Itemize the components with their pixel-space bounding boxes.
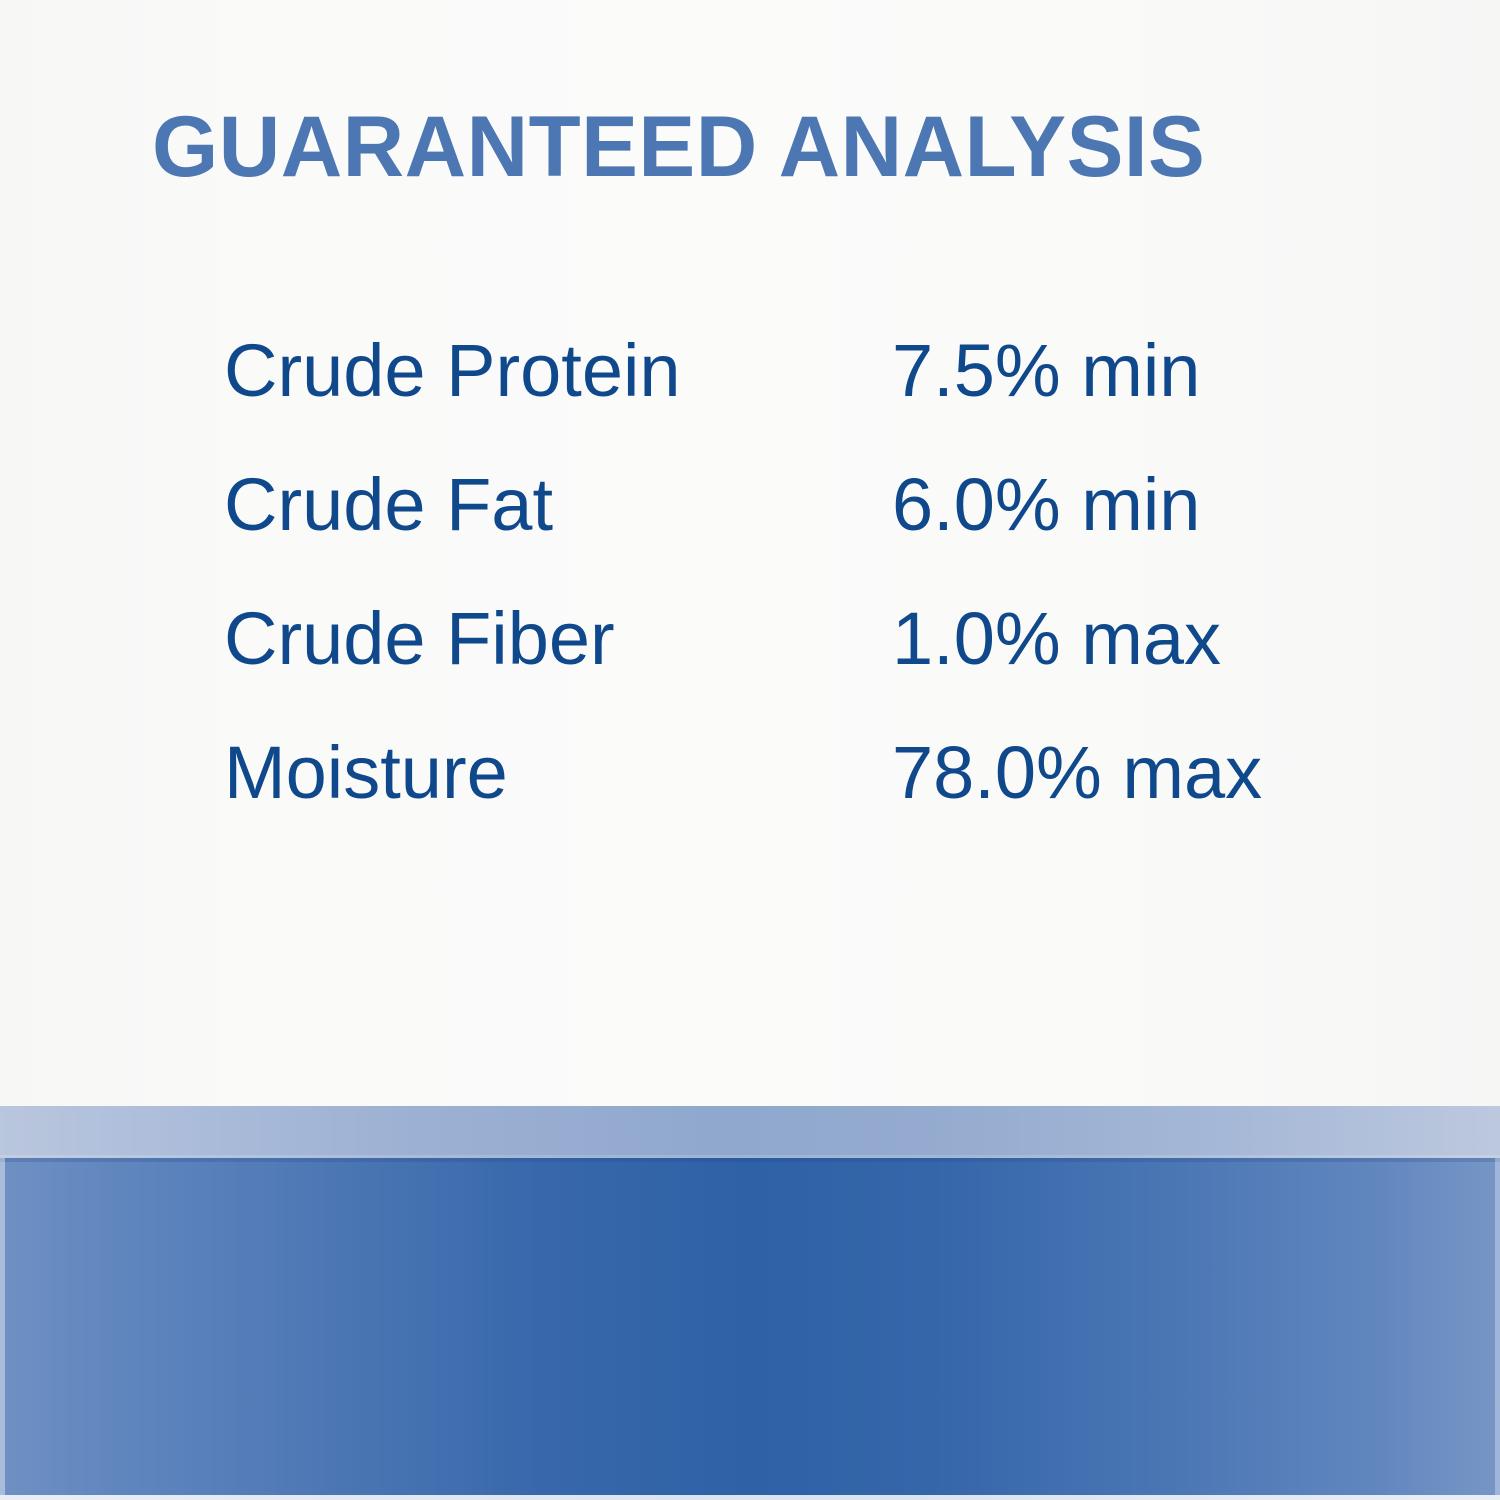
nutrient-label: Crude Fat bbox=[224, 462, 892, 548]
footer-band-divider bbox=[0, 1158, 1500, 1162]
page-title: GUARANTEED ANALYSIS bbox=[152, 104, 1205, 190]
nutrient-label: Moisture bbox=[224, 730, 892, 816]
table-row: Crude Protein 7.5% min bbox=[224, 328, 1344, 462]
guaranteed-analysis-table: Crude Protein 7.5% min Crude Fat 6.0% mi… bbox=[224, 328, 1344, 864]
nutrient-amount: 1.0% max bbox=[892, 596, 1344, 682]
footer-band-left-edge bbox=[0, 1158, 5, 1500]
panel-content: GUARANTEED ANALYSIS Crude Protein 7.5% m… bbox=[0, 0, 1500, 1106]
footer-light-band bbox=[0, 1106, 1500, 1158]
footer-band-right-edge bbox=[1495, 1158, 1500, 1500]
nutrient-amount: 78.0% max bbox=[892, 730, 1344, 816]
table-row: Crude Fiber 1.0% max bbox=[224, 596, 1344, 730]
nutrient-amount: 7.5% min bbox=[892, 328, 1344, 414]
table-row: Moisture 78.0% max bbox=[224, 730, 1344, 864]
nutrient-amount: 6.0% min bbox=[892, 462, 1344, 548]
nutrient-label: Crude Protein bbox=[224, 328, 892, 414]
footer-dark-band bbox=[0, 1158, 1500, 1495]
nutrient-label: Crude Fiber bbox=[224, 596, 892, 682]
table-row: Crude Fat 6.0% min bbox=[224, 462, 1344, 596]
guaranteed-analysis-panel: GUARANTEED ANALYSIS Crude Protein 7.5% m… bbox=[0, 0, 1500, 1500]
footer-bottom-edge bbox=[0, 1495, 1500, 1500]
